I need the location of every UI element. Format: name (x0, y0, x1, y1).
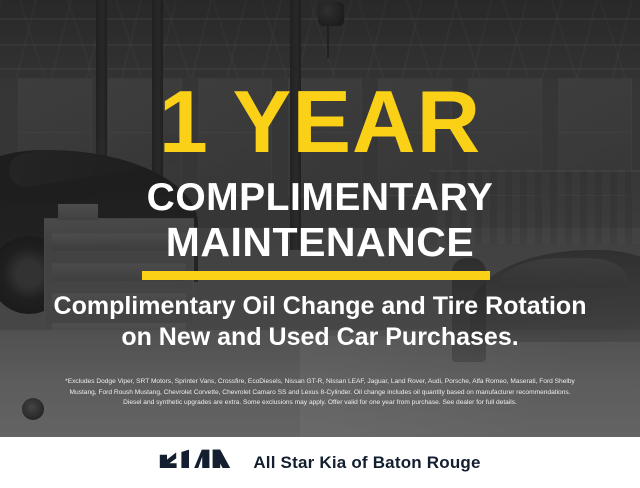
disclaimer-line-2: Mustang, Ford Roush Mustang, Chevrolet C… (14, 388, 626, 399)
dealer-name: All Star Kia of Baton Rouge (253, 453, 480, 473)
footer-brand-group: All Star Kia of Baton Rouge (159, 449, 480, 476)
headline-subline-complimentary: COMPLIMENTARY (0, 178, 640, 217)
kia-logo (159, 449, 231, 476)
maintenance-offer-banner: 1 YEAR COMPLIMENTARY MAINTENANCE Complim… (0, 0, 640, 488)
offer-description-line-1: Complimentary Oil Change and Tire Rotati… (0, 294, 640, 319)
banner-content: 1 YEAR COMPLIMENTARY MAINTENANCE Complim… (0, 0, 640, 437)
disclaimer-line-1: *Excludes Dodge Viper, SRT Motors, Sprin… (14, 377, 626, 388)
disclaimer-line-3: Diesel and synthetic upgrades are extra.… (14, 398, 626, 409)
yellow-divider-rule (142, 271, 490, 280)
headline-subline-maintenance: MAINTENANCE (0, 222, 640, 263)
disclaimer-text: *Excludes Dodge Viper, SRT Motors, Sprin… (14, 377, 626, 409)
banner-footer: All Star Kia of Baton Rouge (0, 437, 640, 488)
offer-description-line-2: on New and Used Car Purchases. (0, 325, 640, 350)
headline-year: 1 YEAR (0, 78, 640, 166)
